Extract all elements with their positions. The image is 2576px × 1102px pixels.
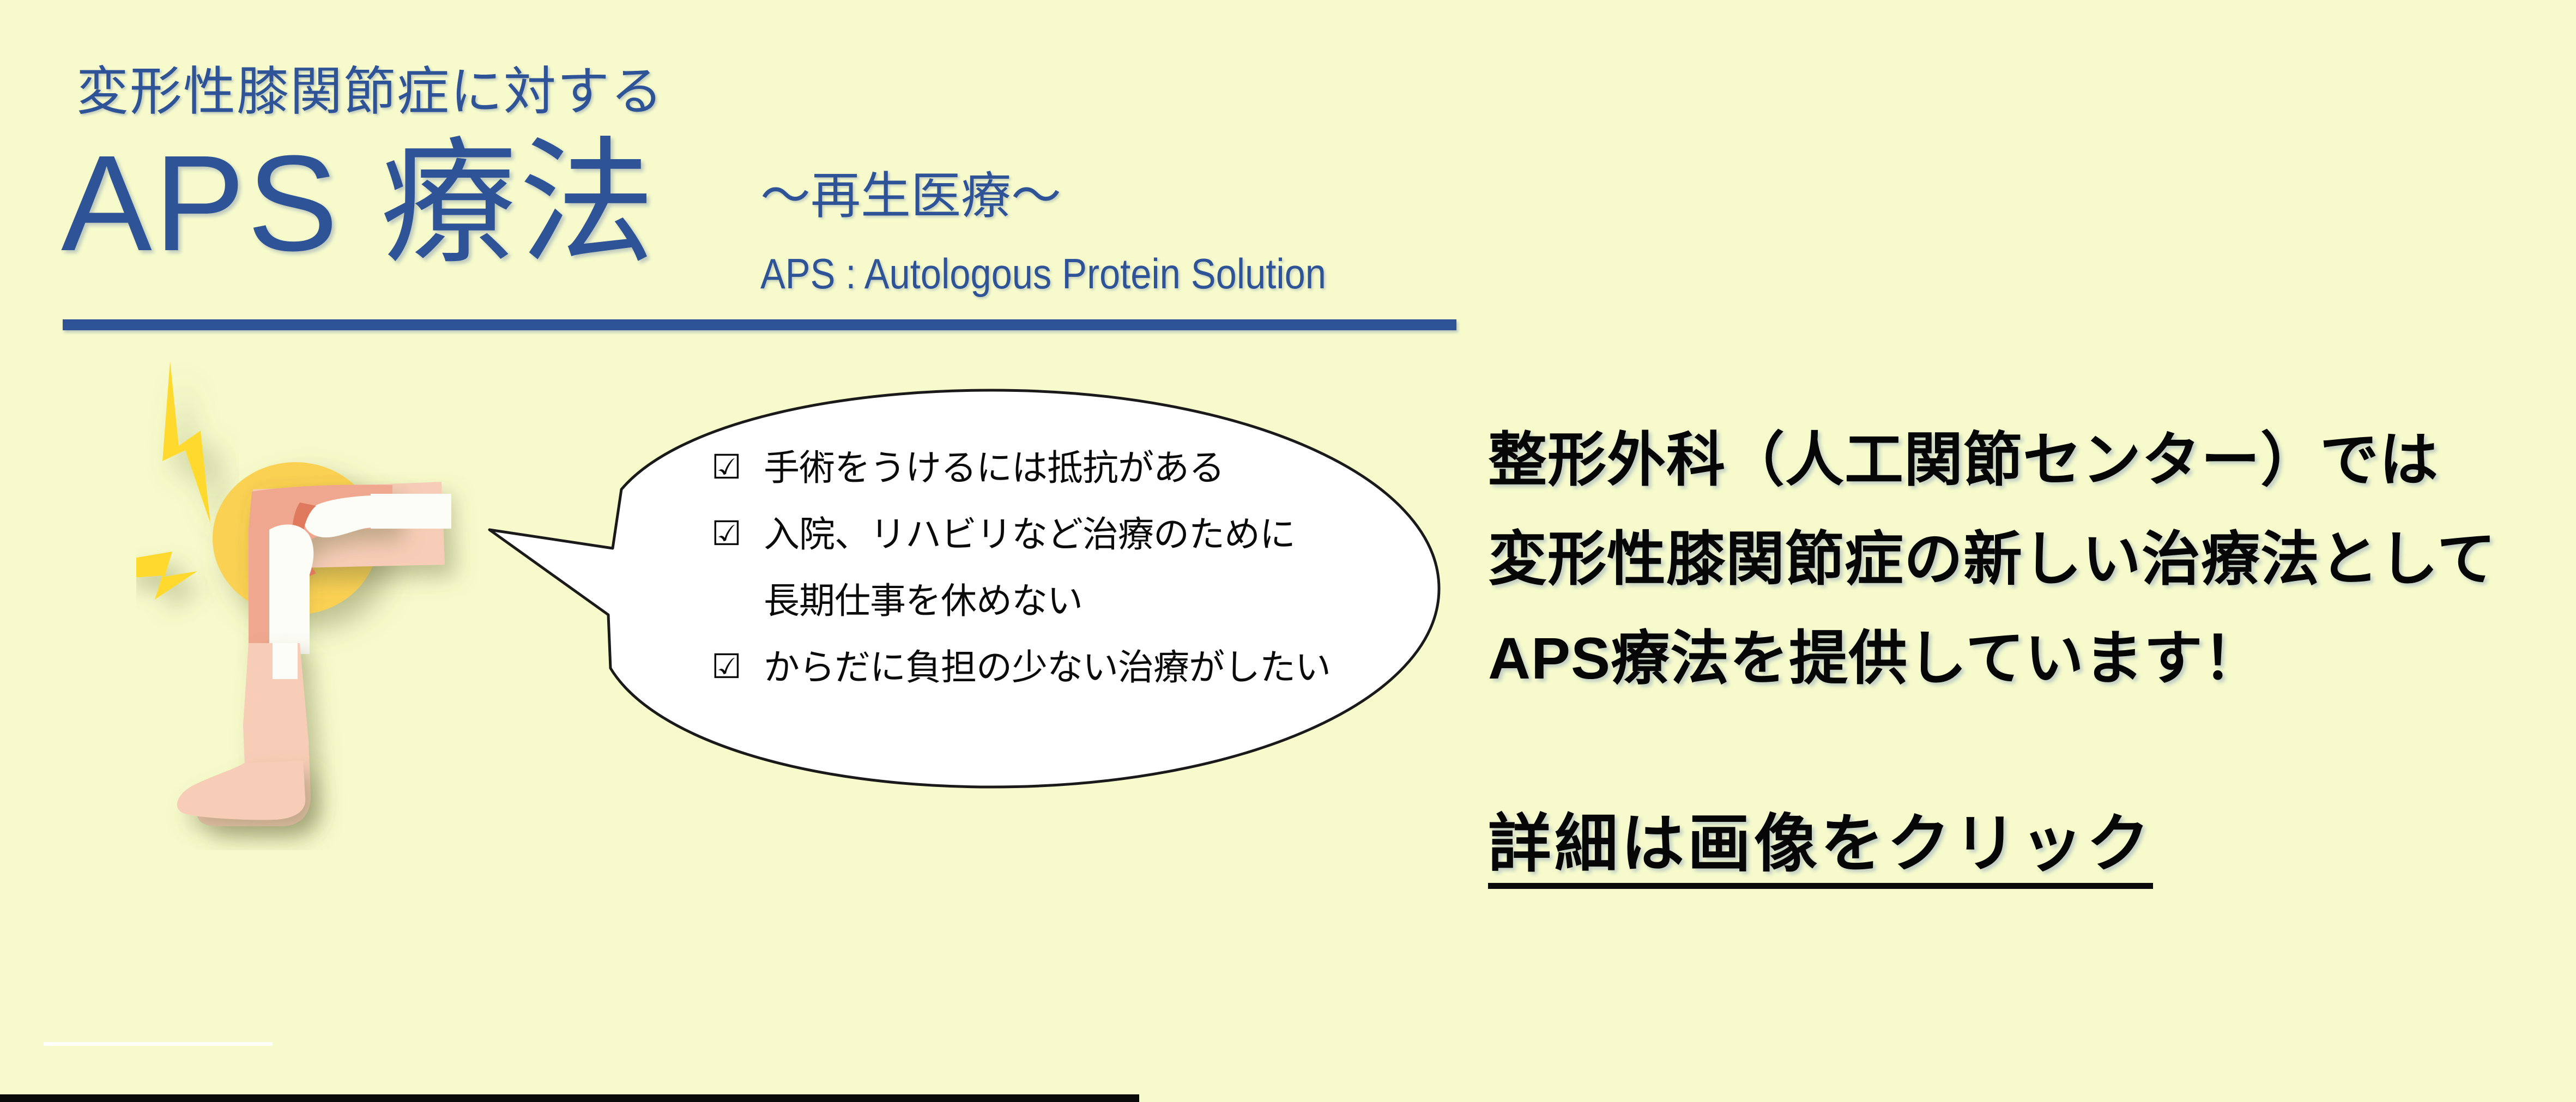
promo-line-2: 変形性膝関節症の新しい治療法として: [1488, 530, 2524, 589]
list-item-label: 入院、リハビリなど治療のために: [764, 516, 1295, 552]
promo-copy: 整形外科（人工関節センター）では 変形性膝関節症の新しい治療法として APS療法…: [1488, 431, 2524, 688]
femur-shaft: [371, 494, 451, 529]
checkbox-checked-icon[interactable]: ☑: [711, 649, 764, 685]
list-item: ☑ 手術をうけるには抵抗がある: [711, 450, 1344, 486]
pain-bolt-large-icon: [162, 361, 210, 523]
tibia-bone: [269, 524, 313, 654]
subtitle-japanese: 〜再生医療〜: [760, 169, 1061, 224]
concern-checklist: ☑ 手術をうけるには抵抗がある ☑ 入院、リハビリなど治療のために 長期仕事を休…: [711, 450, 1344, 685]
tibia-stripe: [273, 643, 298, 679]
page-title: APS 療法: [61, 135, 657, 271]
pain-bolt-small-icon: [136, 552, 197, 600]
list-item-label: 長期仕事を休めない: [764, 583, 1083, 619]
list-item-label: からだに負担の少ない治療がしたい: [764, 649, 1331, 685]
list-item: ☑ からだに負担の少ない治療がしたい: [711, 649, 1344, 685]
banner-kicker: 変形性膝関節症に対する: [76, 63, 664, 121]
promo-line-1: 整形外科（人工関節センター）では: [1488, 431, 2524, 489]
title-divider: [63, 319, 1456, 330]
checkbox-checked-icon[interactable]: ☑: [711, 450, 764, 485]
subtitle-english: APS : Autologous Protein Solution: [760, 251, 1326, 298]
list-item-continuation: 長期仕事を休めない: [711, 583, 1344, 619]
cta-link[interactable]: 詳細は画像をクリック: [1488, 812, 2153, 889]
footer-thin-rule: [44, 1042, 273, 1046]
list-item: ☑ 入院、リハビリなど治療のために: [711, 516, 1344, 552]
footer-bar: [0, 1094, 1139, 1102]
checkbox-checked-icon[interactable]: ☑: [711, 516, 764, 552]
painful-knee-illustration: [136, 349, 529, 850]
promo-line-3: APS療法を提供しています！: [1488, 629, 2524, 688]
aps-therapy-banner[interactable]: 変形性膝関節症に対する APS 療法 〜再生医療〜 APS : Autologo…: [0, 0, 2576, 1102]
list-item-label: 手術をうけるには抵抗がある: [764, 450, 1224, 486]
foot: [177, 761, 305, 820]
